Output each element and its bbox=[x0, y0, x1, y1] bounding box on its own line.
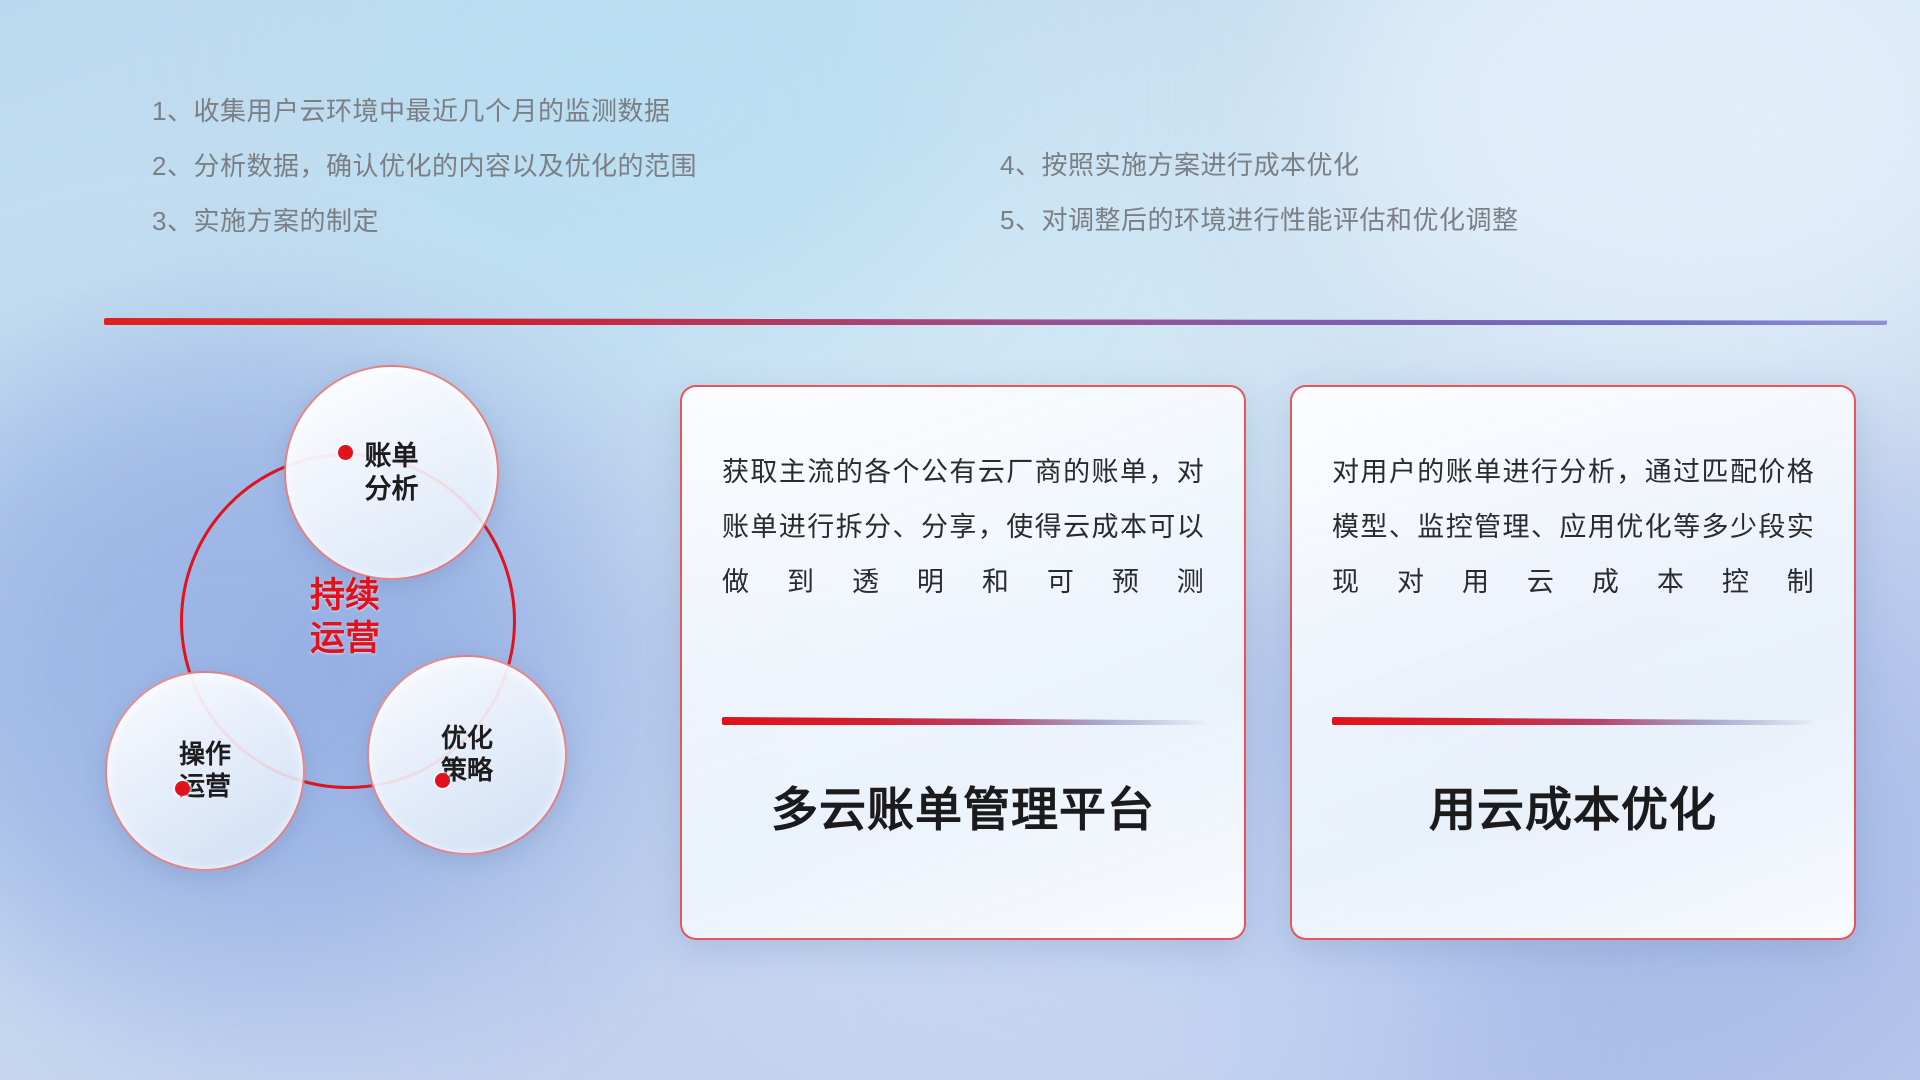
card-multicloud-billing-platform[interactable]: 获取主流的各个公有云厂商的账单，对账单进行拆分、分享，使得云成本可以做到透明和可… bbox=[680, 385, 1246, 940]
card-1-title: 多云账单管理平台 bbox=[722, 771, 1204, 840]
step-item-5: 5、对调整后的环境进行性能评估和优化调整 bbox=[1000, 207, 1518, 233]
venn-center-label-line2: 运营 bbox=[310, 618, 380, 661]
step-item-2: 2、分析数据，确认优化的内容以及优化的范围 bbox=[152, 153, 697, 179]
card-2-body: 对用户的账单进行分析，通过匹配价格模型、监控管理、应用优化等多少段实现对用云成本… bbox=[1332, 445, 1814, 703]
venn-diagram: 持续 运营 账单 分析 操作 运营 优化 策略 bbox=[95, 355, 615, 955]
step-item-1: 1、收集用户云环境中最近几个月的监测数据 bbox=[152, 98, 697, 124]
venn-connector-dot-left bbox=[175, 781, 190, 796]
steps-list-right: 4、按照实施方案进行成本优化 5、对调整后的环境进行性能评估和优化调整 bbox=[1000, 152, 1518, 262]
venn-connector-dot-top bbox=[338, 445, 353, 460]
card-2-title: 用云成本优化 bbox=[1332, 771, 1814, 840]
card-1-rule bbox=[722, 717, 1204, 725]
step-item-4: 4、按照实施方案进行成本优化 bbox=[1000, 152, 1518, 178]
steps-list-left: 1、收集用户云环境中最近几个月的监测数据 2、分析数据，确认优化的内容以及优化的… bbox=[152, 98, 697, 263]
card-cloud-cost-optimization[interactable]: 对用户的账单进行分析，通过匹配价格模型、监控管理、应用优化等多少段实现对用云成本… bbox=[1290, 385, 1856, 940]
slide-canvas: 1、收集用户云环境中最近几个月的监测数据 2、分析数据，确认优化的内容以及优化的… bbox=[0, 0, 1920, 1080]
section-divider-rule bbox=[104, 318, 1887, 325]
venn-center-label: 持续 运营 bbox=[180, 453, 510, 783]
step-item-3: 3、实施方案的制定 bbox=[152, 208, 697, 234]
card-1-body: 获取主流的各个公有云厂商的账单，对账单进行拆分、分享，使得云成本可以做到透明和可… bbox=[722, 445, 1204, 703]
venn-connector-dot-right bbox=[435, 773, 450, 788]
venn-center-label-line1: 持续 bbox=[310, 575, 380, 618]
card-2-rule bbox=[1332, 717, 1814, 725]
